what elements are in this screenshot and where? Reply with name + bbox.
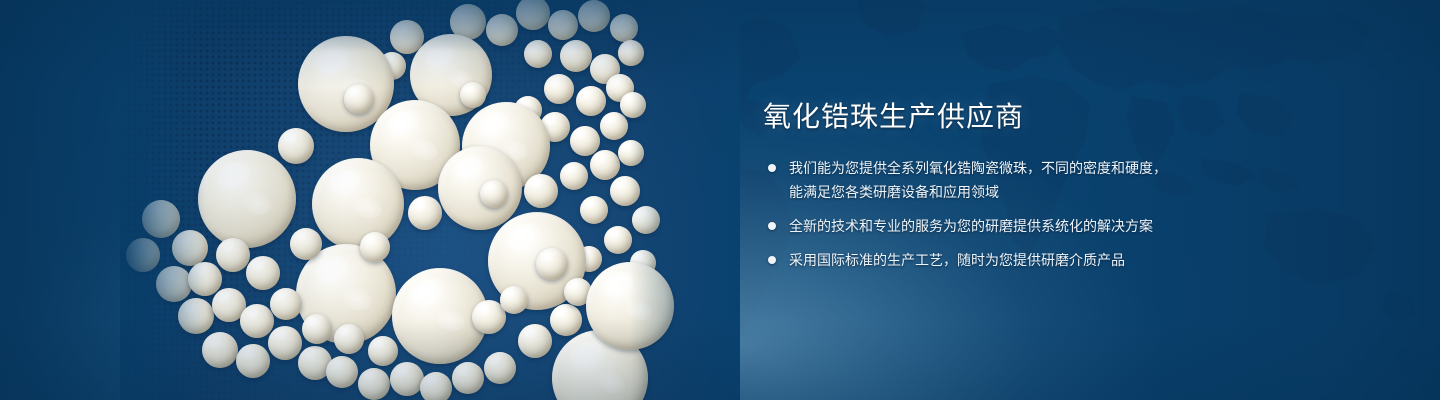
feature-list: 我们能为您提供全系列氧化锆陶瓷微珠，不同的密度和硬度， 能满足您各类研磨设备和应…	[763, 156, 1233, 272]
banner-copy: 氧化锆珠生产供应商 我们能为您提供全系列氧化锆陶瓷微珠，不同的密度和硬度， 能满…	[763, 100, 1233, 282]
list-item-line: 全新的技术和专业的服务为您的研磨提供系统化的解决方案	[789, 214, 1233, 238]
list-item: 我们能为您提供全系列氧化锆陶瓷微珠，不同的密度和硬度， 能满足您各类研磨设备和应…	[763, 156, 1233, 204]
page-title: 氧化锆珠生产供应商	[763, 100, 1233, 134]
list-item: 采用国际标准的生产工艺，随时为您提供研磨介质产品	[763, 248, 1233, 272]
list-item: 全新的技术和专业的服务为您的研磨提供系统化的解决方案	[763, 214, 1233, 238]
hero-banner: 氧化锆珠生产供应商 我们能为您提供全系列氧化锆陶瓷微珠，不同的密度和硬度， 能满…	[0, 0, 1440, 400]
list-item-line: 采用国际标准的生产工艺，随时为您提供研磨介质产品	[789, 248, 1233, 272]
list-item-line: 能满足您各类研磨设备和应用领域	[789, 180, 1233, 204]
list-item-line: 我们能为您提供全系列氧化锆陶瓷微珠，不同的密度和硬度，	[789, 156, 1233, 180]
bullet-dot-icon	[768, 222, 776, 230]
bullet-dot-icon	[768, 164, 776, 172]
bullet-dot-icon	[768, 256, 776, 264]
